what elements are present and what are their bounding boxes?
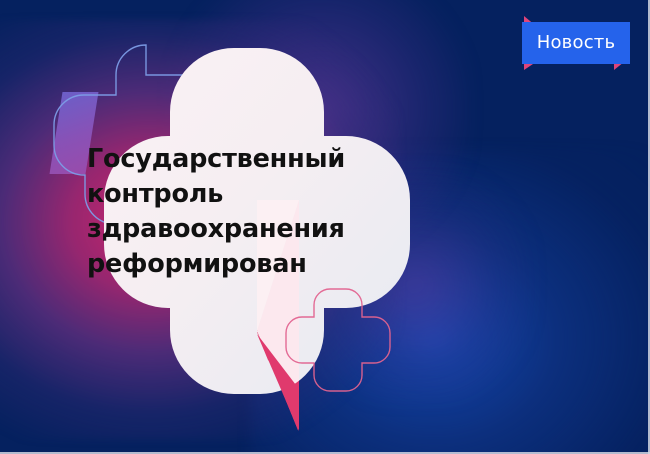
- badge-label: Новость: [537, 34, 616, 52]
- news-card: Государственный контроль здравоохранения…: [0, 0, 650, 454]
- badge-box[interactable]: Новость: [522, 22, 630, 64]
- page-title: Государственный контроль здравоохранения…: [87, 142, 355, 282]
- news-badge[interactable]: Новость: [512, 12, 636, 74]
